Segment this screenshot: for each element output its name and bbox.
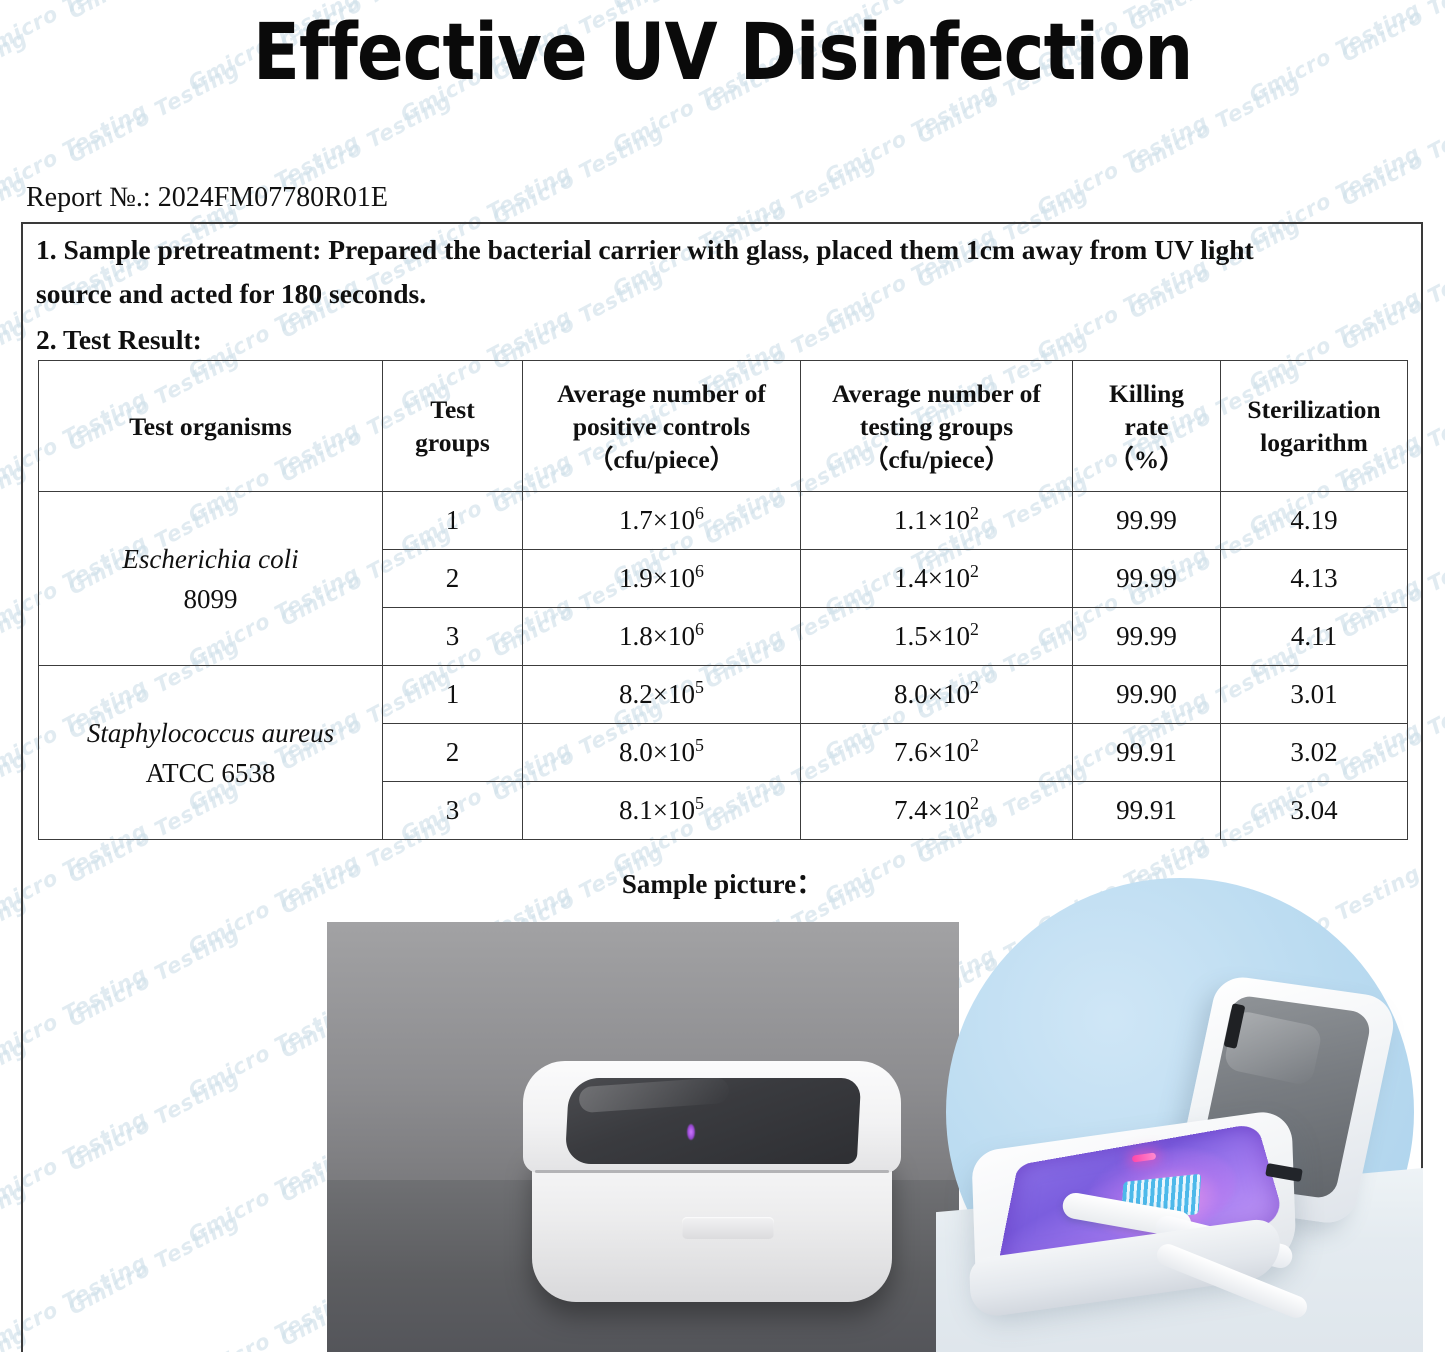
test-result-heading: 2. Test Result: <box>36 318 1414 362</box>
cell-positive-control-exponent: 6 <box>695 503 704 523</box>
header-test-groups-line2: groups <box>383 426 522 459</box>
pretreatment-line-1: 1. Sample pretreatment: Prepared the bac… <box>36 228 1408 272</box>
sample-photo-closed-sterilizer <box>327 922 959 1352</box>
cell-sterilization-logarithm: 3.01 <box>1221 666 1408 724</box>
uv-indicator-light <box>687 1124 695 1140</box>
organism-species: Escherichia coli <box>39 539 382 579</box>
sterilizer-latch <box>682 1217 774 1239</box>
cell-sterilization-logarithm: 3.04 <box>1221 782 1408 840</box>
cell-positive-control: 8.1×105 <box>523 782 801 840</box>
header-test-organisms-label: Test organisms <box>129 412 292 441</box>
cell-testing-group: 8.0×102 <box>801 666 1073 724</box>
header-killing-rate: Killing rate （%） <box>1073 361 1221 492</box>
test-results-table: Test organisms Test groups Average numbe… <box>38 360 1408 840</box>
header-killing-rate-line2: rate <box>1073 410 1220 443</box>
cell-testing-group: 1.1×102 <box>801 492 1073 550</box>
header-sterilization-logarithm: Sterilization logarithm <box>1221 361 1408 492</box>
header-killing-rate-line1: Killing <box>1073 377 1220 410</box>
cell-test-group: 1 <box>383 492 523 550</box>
organism-strain: ATCC 6538 <box>39 753 382 793</box>
cell-test-group: 3 <box>383 782 523 840</box>
cell-test-organism: Staphylococcus aureusATCC 6538 <box>39 666 383 840</box>
cell-testing-group-exponent: 2 <box>970 561 979 581</box>
cell-killing-rate: 99.99 <box>1073 608 1221 666</box>
cell-test-group: 1 <box>383 666 523 724</box>
cell-testing-group-exponent: 2 <box>970 735 979 755</box>
cell-positive-control: 1.7×106 <box>523 492 801 550</box>
header-positive-controls: Average number of positive controls （cfu… <box>523 361 801 492</box>
header-positive-controls-unit: （cfu/piece） <box>523 443 800 476</box>
header-testing-groups-unit: （cfu/piece） <box>801 443 1072 476</box>
cell-killing-rate: 99.99 <box>1073 550 1221 608</box>
cell-sterilization-logarithm: 4.19 <box>1221 492 1408 550</box>
cell-test-group: 2 <box>383 550 523 608</box>
cell-testing-group-exponent: 2 <box>970 677 979 697</box>
header-sterilization-logarithm-line2: logarithm <box>1221 426 1407 459</box>
cell-positive-control-exponent: 6 <box>695 561 704 581</box>
cell-positive-control: 1.8×106 <box>523 608 801 666</box>
header-positive-controls-line2: positive controls <box>523 410 800 443</box>
title-bar: Effective UV Disinfection <box>0 0 1445 105</box>
cell-sterilization-logarithm: 4.11 <box>1221 608 1408 666</box>
header-test-groups: Test groups <box>383 361 523 492</box>
cell-test-group: 3 <box>383 608 523 666</box>
cell-testing-group-exponent: 2 <box>970 793 979 813</box>
cell-sterilization-logarithm: 3.02 <box>1221 724 1408 782</box>
cell-testing-group: 7.4×102 <box>801 782 1073 840</box>
cell-sterilization-logarithm: 4.13 <box>1221 550 1408 608</box>
cell-testing-group-exponent: 2 <box>970 503 979 523</box>
report-text-block: 1. Sample pretreatment: Prepared the bac… <box>36 228 1414 362</box>
cell-positive-control-exponent: 5 <box>695 735 704 755</box>
sterilizer-lid-seam <box>535 1170 889 1173</box>
header-test-organisms: Test organisms <box>39 361 383 492</box>
header-killing-rate-unit: （%） <box>1073 443 1220 476</box>
cell-testing-group: 1.5×102 <box>801 608 1073 666</box>
cell-testing-group-exponent: 2 <box>970 619 979 639</box>
header-testing-groups: Average number of testing groups （cfu/pi… <box>801 361 1073 492</box>
pretreatment-line-2: source and acted for 180 seconds. <box>36 272 1414 316</box>
cell-killing-rate: 99.99 <box>1073 492 1221 550</box>
cell-testing-group: 1.4×102 <box>801 550 1073 608</box>
cell-positive-control: 8.2×105 <box>523 666 801 724</box>
page-title: Effective UV Disinfection <box>253 13 1192 93</box>
organism-species: Staphylococcus aureus <box>39 713 382 753</box>
cell-test-organism: Escherichia coli8099 <box>39 492 383 666</box>
cell-positive-control: 8.0×105 <box>523 724 801 782</box>
cell-positive-control-exponent: 5 <box>695 793 704 813</box>
cell-killing-rate: 99.91 <box>1073 724 1221 782</box>
header-sterilization-logarithm-line1: Sterilization <box>1221 393 1407 426</box>
table-body: Escherichia coli809911.7×1061.1×10299.99… <box>39 492 1408 840</box>
header-positive-controls-line1: Average number of <box>523 377 800 410</box>
header-test-groups-line1: Test <box>383 393 522 426</box>
cell-positive-control-exponent: 5 <box>695 677 704 697</box>
table-right-edge-rule <box>1421 840 1423 968</box>
cell-positive-control: 1.9×106 <box>523 550 801 608</box>
report-number-line: Report №.: 2024FM07780R01E <box>26 182 388 214</box>
sample-picture-caption: Sample picture： <box>0 862 1445 901</box>
sample-inset-open-sterilizer <box>936 872 1423 1352</box>
cell-killing-rate: 99.91 <box>1073 782 1221 840</box>
cell-test-group: 2 <box>383 724 523 782</box>
cell-killing-rate: 99.90 <box>1073 666 1221 724</box>
organism-strain: 8099 <box>39 579 382 619</box>
table-row: Staphylococcus aureusATCC 653818.2×1058.… <box>39 666 1408 724</box>
table-row: Escherichia coli809911.7×1061.1×10299.99… <box>39 492 1408 550</box>
table-header-row: Test organisms Test groups Average numbe… <box>39 361 1408 492</box>
cell-testing-group: 7.6×102 <box>801 724 1073 782</box>
cell-positive-control-exponent: 6 <box>695 619 704 639</box>
header-testing-groups-line1: Average number of <box>801 377 1072 410</box>
header-testing-groups-line2: testing groups <box>801 410 1072 443</box>
